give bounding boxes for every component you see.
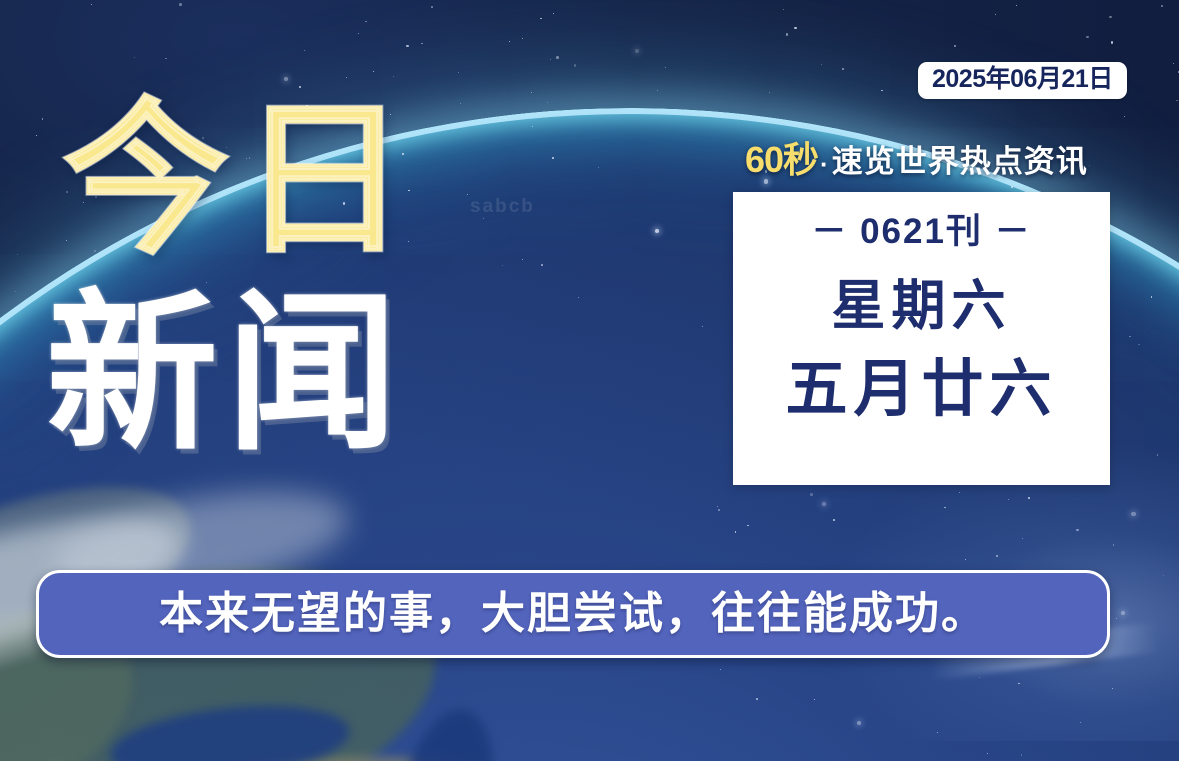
info-card: － 0621刊 － 星期六 五月廿六 [733,192,1110,485]
issue-number: － 0621刊 － [811,214,1031,249]
tagline-seconds: 60秒 [745,139,818,180]
weekday-label: 星期六 [832,279,1012,333]
lunar-date-label: 五月廿六 [785,359,1057,421]
title-line-1: 今日 [62,96,418,264]
tagline-separator: · [820,149,829,179]
news-poster: sabcb 2025年06月21日 60秒·速览世界热点资讯 － 0621刊 －… [0,0,1179,761]
title-line-2: 新闻 [46,288,406,460]
quote-text: 本来无望的事，大胆尝试，往往能成功。 [159,592,987,636]
tagline: 60秒·速览世界热点资讯 [745,142,1088,178]
tagline-text: 速览世界热点资讯 [832,144,1088,179]
date-badge: 2025年06月21日 [918,62,1127,99]
quote-bar: 本来无望的事，大胆尝试，往往能成功。 [36,570,1110,658]
